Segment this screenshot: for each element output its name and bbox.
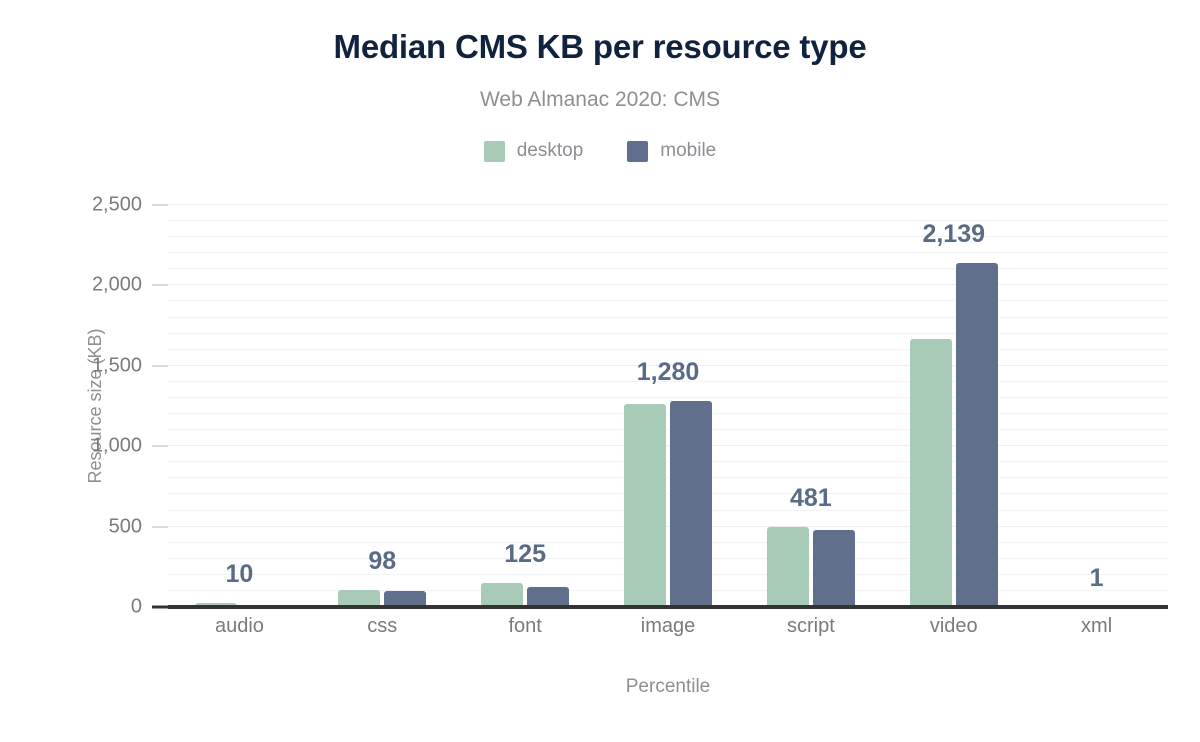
legend-label: mobile [660, 140, 716, 162]
y-axis-tick-label: 0 [131, 596, 142, 619]
x-axis-label-video: video [882, 615, 1025, 649]
legend-swatch-desktop [484, 141, 505, 162]
bar-group-image: 1,280 [597, 205, 740, 607]
y-axis-tick-label: 500 [109, 515, 142, 538]
bar-groups: 10981251,2804812,1391 [168, 205, 1168, 607]
bar-desktop-script[interactable] [767, 527, 809, 607]
y-axis-tick-mark [152, 445, 168, 447]
x-axis-baseline [168, 605, 1168, 609]
y-axis-tick-label: 1,000 [92, 435, 142, 458]
bar-value-label-font: 125 [504, 540, 546, 569]
legend-swatch-mobile [627, 141, 648, 162]
bar-desktop-font[interactable] [481, 583, 523, 607]
bar-group-css: 98 [311, 205, 454, 607]
chart-subtitle: Web Almanac 2020: CMS [0, 88, 1200, 112]
bar-group-xml: 1 [1025, 205, 1168, 607]
y-axis-tick-label: 2,500 [92, 194, 142, 217]
bar-mobile-video[interactable] [956, 263, 998, 607]
y-axis-tick-label: 2,000 [92, 274, 142, 297]
y-axis-tick-mark [152, 526, 168, 528]
bar-group-font: 125 [454, 205, 597, 607]
legend-item-mobile[interactable]: mobile [627, 140, 716, 162]
chart-legend: desktopmobile [0, 140, 1200, 162]
bar-value-label-video: 2,139 [922, 220, 985, 249]
legend-item-desktop[interactable]: desktop [484, 140, 584, 162]
bar-value-label-css: 98 [368, 547, 396, 576]
x-axis-label-audio: audio [168, 615, 311, 649]
bar-mobile-image[interactable] [670, 401, 712, 607]
bar-group-script: 481 [739, 205, 882, 607]
bar-pair [910, 205, 998, 607]
chart-container: Median CMS KB per resource type Web Alma… [0, 0, 1200, 742]
bar-group-video: 2,139 [882, 205, 1025, 607]
bar-pair [195, 205, 283, 607]
bar-value-label-xml: 1 [1090, 564, 1104, 593]
bar-value-label-script: 481 [790, 484, 832, 513]
bar-pair [767, 205, 855, 607]
y-axis-tick-mark [152, 365, 168, 367]
bar-pair [624, 205, 712, 607]
x-axis-label-script: script [739, 615, 882, 649]
bar-desktop-image[interactable] [624, 404, 666, 607]
x-axis-title: Percentile [168, 676, 1168, 698]
bar-group-audio: 10 [168, 205, 311, 607]
bar-pair [1053, 205, 1141, 607]
x-axis-label-image: image [597, 615, 740, 649]
x-axis-label-css: css [311, 615, 454, 649]
plot-area: 10981251,2804812,1391 [168, 205, 1168, 607]
y-axis-ticks: 05001,0001,5002,0002,500 [0, 205, 168, 607]
bar-mobile-font[interactable] [527, 587, 569, 607]
x-axis-labels: audiocssfontimagescriptvideoxml [168, 615, 1168, 649]
bar-value-label-audio: 10 [226, 560, 254, 589]
y-axis-tick-mark [152, 606, 168, 609]
bar-mobile-script[interactable] [813, 530, 855, 607]
y-axis-tick-label: 1,500 [92, 354, 142, 377]
bar-value-label-image: 1,280 [637, 358, 700, 387]
bar-desktop-video[interactable] [910, 339, 952, 607]
y-axis-tick-mark [152, 284, 168, 286]
chart-title: Median CMS KB per resource type [0, 28, 1200, 66]
legend-label: desktop [517, 140, 584, 162]
x-axis-label-xml: xml [1025, 615, 1168, 649]
x-axis-label-font: font [454, 615, 597, 649]
y-axis-tick-mark [152, 204, 168, 206]
